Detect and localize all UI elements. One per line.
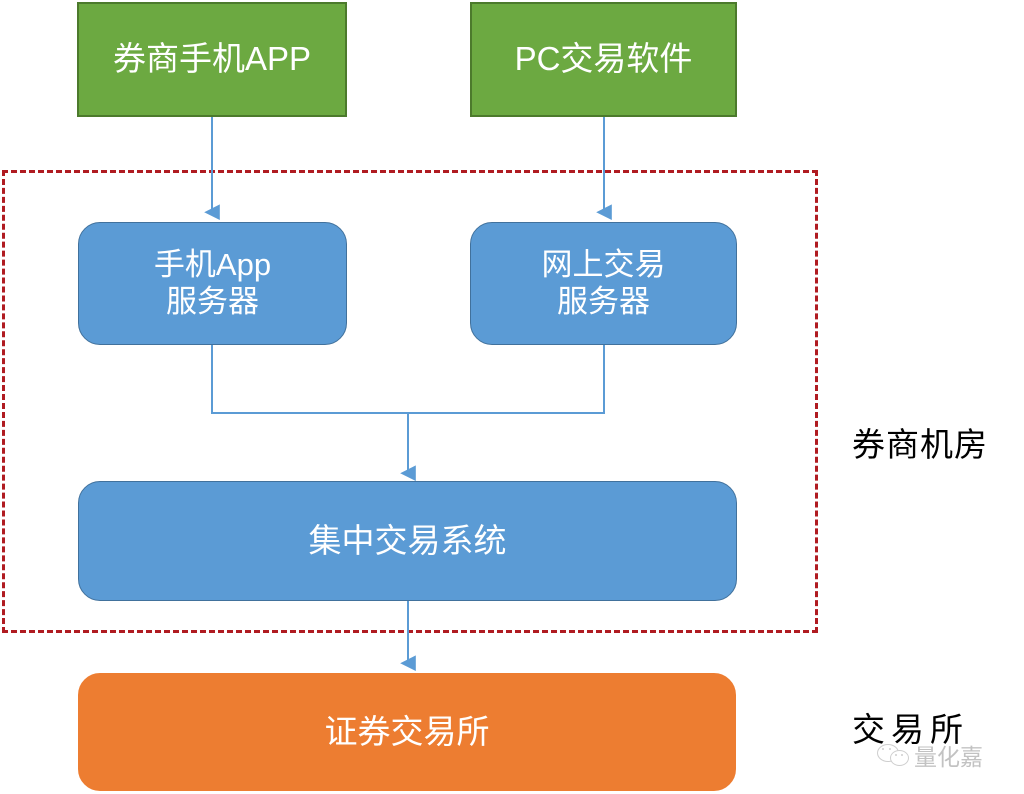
watermark-text: 量化嘉 [914, 738, 983, 772]
node-online-trading-server[interactable]: 网上交易 服务器 [470, 222, 737, 345]
zone-label-broker-data-center: 券商机房 [852, 418, 988, 466]
node-broker-mobile-app[interactable]: 券商手机APP [77, 2, 347, 117]
node-central-trading-system[interactable]: 集中交易系统 [78, 481, 737, 601]
node-stock-exchange[interactable]: 证券交易所 [78, 673, 736, 791]
node-mobile-app-server[interactable]: 手机App 服务器 [78, 222, 347, 345]
wechat-logo-icon [877, 742, 911, 768]
watermark: 量化嘉 [877, 738, 983, 772]
diagram-canvas: 券商手机APP PC交易软件 手机App 服务器 网上交易 服务器 集中交易系统… [0, 0, 1024, 794]
node-pc-trading-software[interactable]: PC交易软件 [470, 2, 737, 117]
